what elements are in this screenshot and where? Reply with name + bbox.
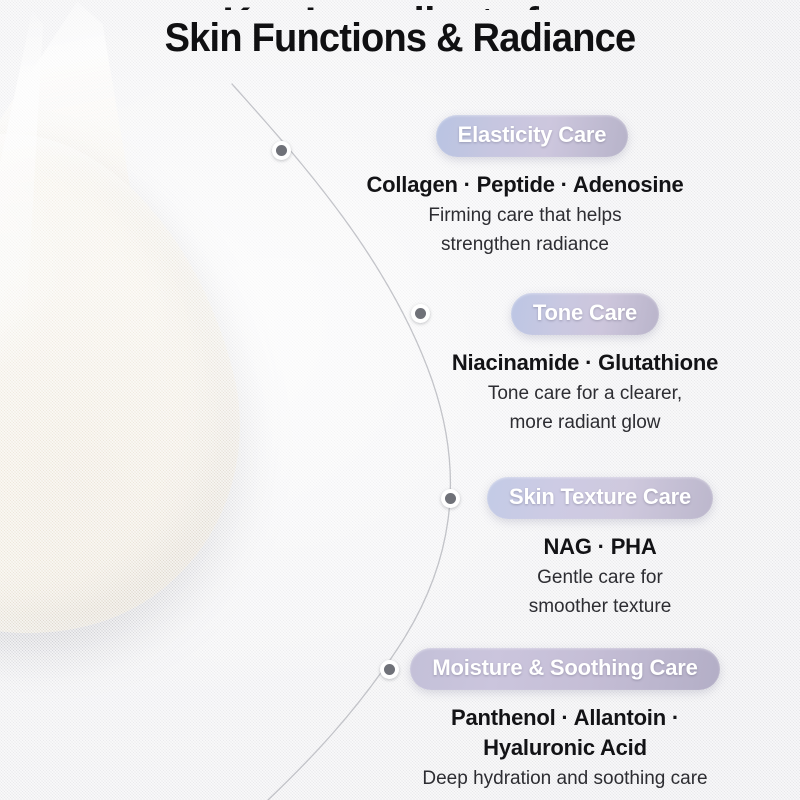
badge-moisture-soothing-care[interactable]: Moisture & Soothing Care: [410, 648, 719, 690]
ingredients-elasticity: Collagen · Peptide · Adenosine: [310, 170, 740, 200]
description-tone-line1: Tone care for a clearer,: [420, 380, 750, 407]
description-skin-texture-line1: Gentle care for: [450, 564, 750, 591]
page-title-clipped-line: Key Ingredients for: [0, 0, 800, 10]
description-tone-line2: more radiant glow: [420, 409, 750, 436]
page-title: Skin Functions & Radiance: [20, 12, 780, 64]
marker-dot-elasticity[interactable]: [272, 141, 291, 160]
marker-dot-skin-texture[interactable]: [441, 489, 460, 508]
care-section-tone: Tone Care Niacinamide · Glutathione Tone…: [420, 293, 750, 436]
description-skin-texture-line2: smoother texture: [450, 593, 750, 620]
description-elasticity-line2: strengthen radiance: [310, 231, 740, 258]
page-title-block: Key Ingredients for Skin Functions & Rad…: [0, 0, 800, 64]
badge-tone-care[interactable]: Tone Care: [511, 293, 659, 335]
infographic-canvas: Key Ingredients for Skin Functions & Rad…: [0, 0, 800, 800]
ingredients-moisture-line2: Hyaluronic Acid: [330, 733, 800, 763]
badge-skin-texture-care[interactable]: Skin Texture Care: [487, 477, 713, 519]
description-elasticity-line1: Firming care that helps: [310, 202, 740, 229]
care-section-skin-texture: Skin Texture Care NAG · PHA Gentle care …: [450, 477, 750, 620]
marker-dot-moisture[interactable]: [380, 660, 399, 679]
care-section-moisture: Moisture & Soothing Care Panthenol · All…: [330, 648, 800, 792]
ingredients-skin-texture: NAG · PHA: [450, 532, 750, 562]
description-moisture-line1: Deep hydration and soothing care: [330, 765, 800, 792]
ingredients-moisture-line1: Panthenol · Allantoin ·: [330, 703, 800, 733]
marker-dot-tone[interactable]: [411, 304, 430, 323]
badge-elasticity-care[interactable]: Elasticity Care: [436, 115, 629, 157]
care-section-elasticity: Elasticity Care Collagen · Peptide · Ade…: [310, 115, 740, 258]
ingredients-tone: Niacinamide · Glutathione: [420, 348, 750, 378]
